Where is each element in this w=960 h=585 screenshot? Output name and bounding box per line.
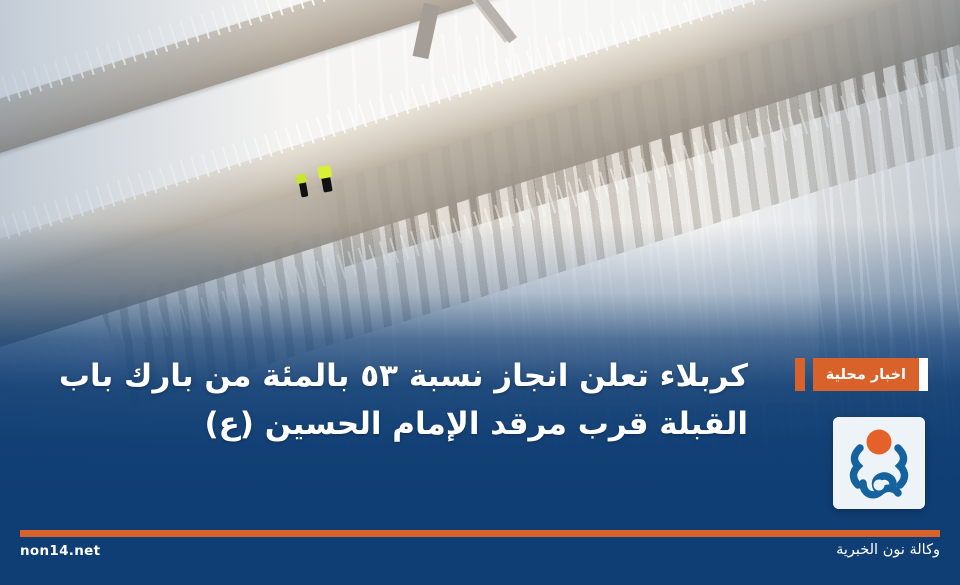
headline-line-2: القبلة قرب مرقد الإمام الحسين (ع) — [40, 400, 748, 448]
news-image-card: اخبار محلية كربلاء تعلن انجاز نسبة ٥٣ با… — [0, 0, 960, 585]
page-title: كربلاء تعلن انجاز نسبة ٥٣ بالمئة من بارك… — [40, 352, 924, 448]
footer-divider — [20, 530, 940, 537]
logo-inner-eye — [874, 480, 885, 491]
agency-name: وكالة نون الخبرية — [836, 542, 940, 558]
noon-agency-logo[interactable] — [833, 417, 925, 509]
site-url[interactable]: non14.net — [20, 543, 100, 559]
card-content: اخبار محلية كربلاء تعلن انجاز نسبة ٥٣ با… — [0, 0, 960, 585]
headline-line-1: كربلاء تعلن انجاز نسبة ٥٣ بالمئة من بارك… — [40, 352, 748, 400]
logo-orange-dot — [867, 430, 892, 455]
noon-agency-logo-icon — [833, 417, 925, 509]
